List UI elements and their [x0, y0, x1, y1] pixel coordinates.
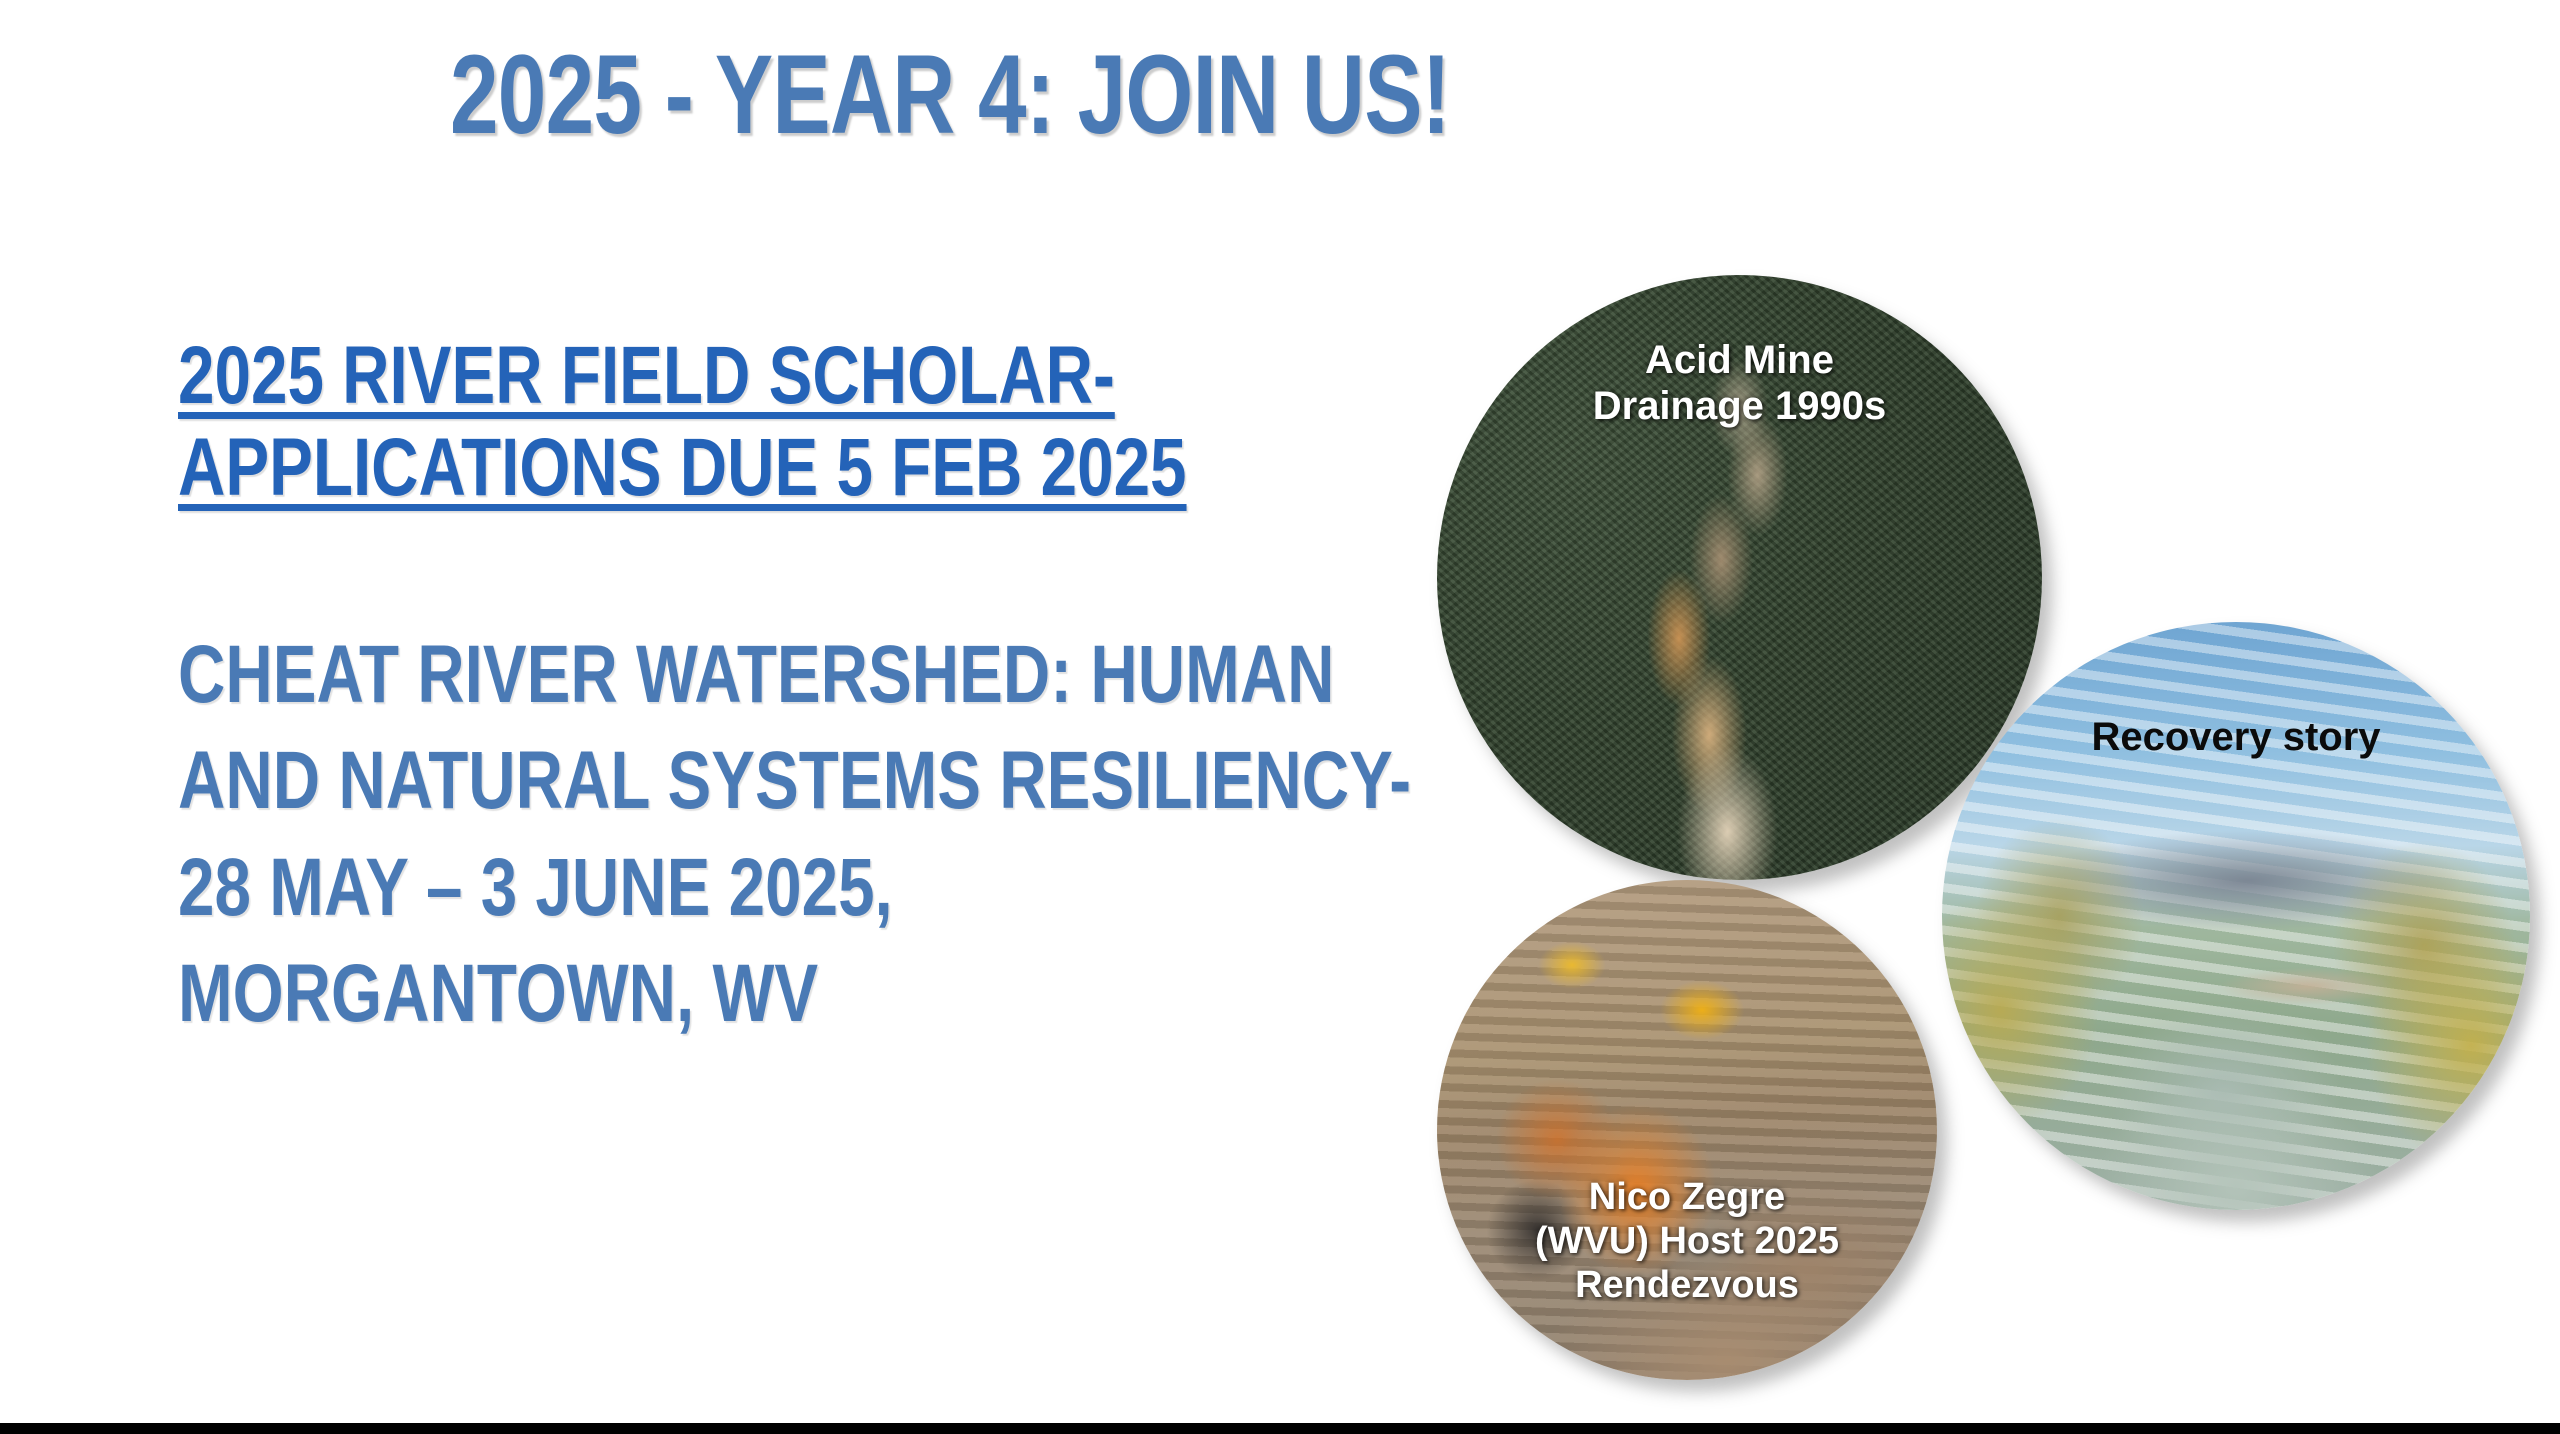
link-heading-line-1: 2025 RIVER FIELD SCHOLAR- — [178, 330, 1115, 421]
river-field-scholar-link[interactable]: 2025 RIVER FIELD SCHOLAR- APPLICATIONS D… — [178, 330, 1402, 514]
caption-nico-line-1: Nico Zegre — [1589, 1176, 1785, 1218]
event-details-line-4: MORGANTOWN, WV — [178, 941, 1402, 1048]
event-details-line-1: CHEAT RIVER WATERSHED: HUMAN — [178, 622, 1402, 729]
photo-nico-zegre: Nico Zegre (WVU) Host 2025 Rendezvous — [1437, 880, 1937, 1380]
left-text-column: 2025 RIVER FIELD SCHOLAR- APPLICATIONS D… — [178, 330, 1408, 1048]
caption-acid-mine-drainage: Acid Mine Drainage 1990s — [1437, 337, 2042, 430]
event-details-line-3: 28 MAY – 3 JUNE 2025, — [178, 835, 1402, 942]
caption-nico-zegre: Nico Zegre (WVU) Host 2025 Rendezvous — [1437, 1175, 1937, 1307]
caption-nico-line-2: (WVU) Host 2025 — [1535, 1220, 1839, 1262]
event-details-text: CHEAT RIVER WATERSHED: HUMAN AND NATURAL… — [178, 622, 1402, 1048]
caption-recovery-story: Recovery story — [1942, 714, 2530, 760]
bottom-bar — [0, 1423, 2560, 1434]
caption-nico-line-3: Rendezvous — [1575, 1264, 1799, 1306]
photo-acid-mine-drainage: Acid Mine Drainage 1990s — [1437, 275, 2042, 880]
event-details-line-2: AND NATURAL SYSTEMS RESILIENCY- — [178, 728, 1402, 835]
caption-amd-line-1: Acid Mine — [1645, 338, 1834, 382]
page-title: 2025 - YEAR 4: JOIN US! — [209, 38, 1691, 152]
slide-canvas: 2025 - YEAR 4: JOIN US! 2025 RIVER FIELD… — [0, 0, 2560, 1434]
link-heading-line-2: APPLICATIONS DUE 5 FEB 2025 — [178, 422, 1187, 513]
caption-recovery-line-1: Recovery story — [2091, 715, 2380, 759]
photo-recovery-story: Recovery story — [1942, 622, 2530, 1210]
caption-amd-line-2: Drainage 1990s — [1593, 384, 1887, 428]
